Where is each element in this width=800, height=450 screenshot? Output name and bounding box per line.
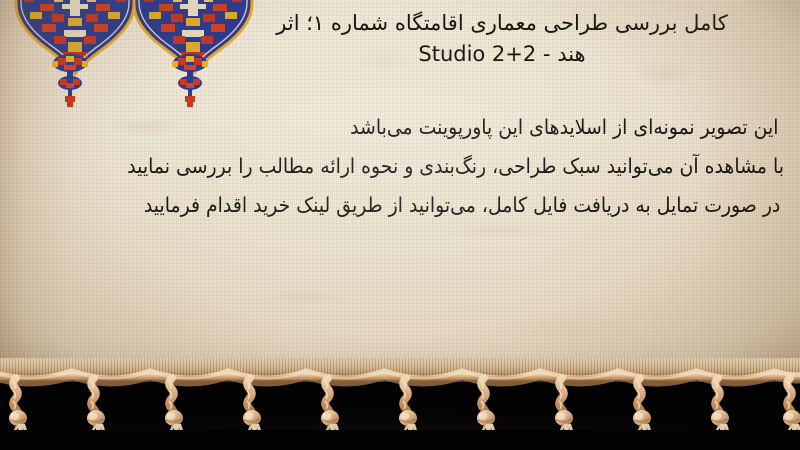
body-line-3: در صورت تمایل به دریافت فایل کامل، می‌تو…: [74, 186, 784, 225]
body-line-1: این تصویر نمونه‌ای از اسلایدهای این پاور…: [74, 108, 784, 147]
body-line-2: با مشاهده آن می‌توانید سبک طراحی، رنگ‌بن…: [74, 147, 784, 186]
slide-bottom-bar: [0, 430, 800, 450]
slide-title: کامل بررسی طراحی معماری اقامتگاه شماره ۱…: [222, 8, 782, 70]
slide-canvas: کامل بررسی طراحی معماری اقامتگاه شماره ۱…: [0, 0, 800, 450]
title-line-1: کامل بررسی طراحی معماری اقامتگاه شماره ۱…: [222, 8, 782, 39]
slide-body-text: این تصویر نمونه‌ای از اسلایدهای این پاور…: [12, 108, 784, 225]
title-line-2: Studio 2+2 - هند: [222, 39, 782, 70]
